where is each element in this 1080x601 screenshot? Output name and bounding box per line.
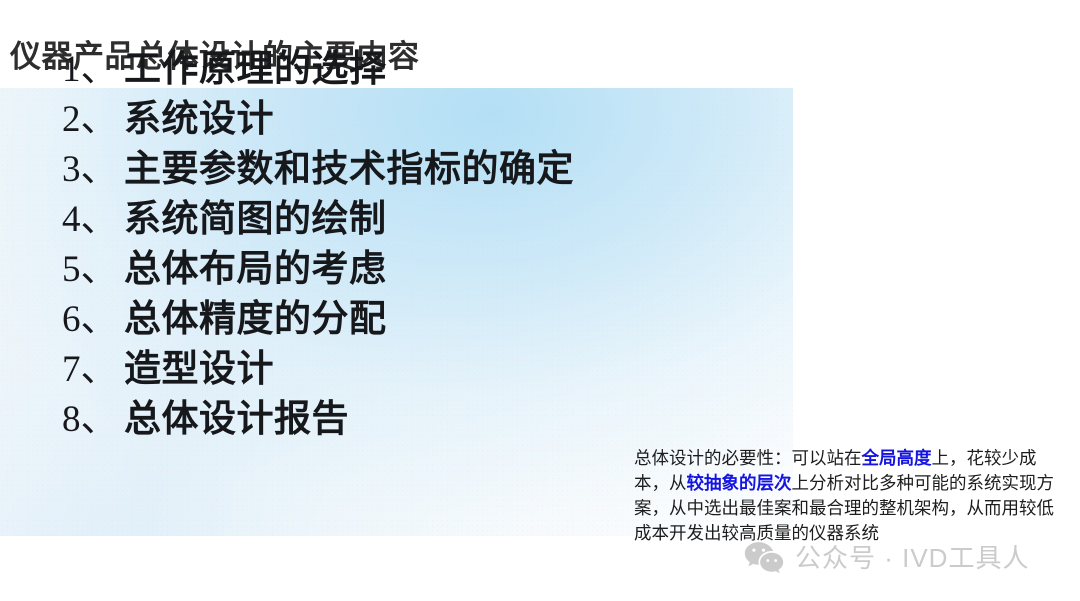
list-item: 4、 系统简图的绘制 — [62, 188, 574, 238]
list-item: 2、 系统设计 — [62, 88, 574, 138]
list-item: 1、 工作原理的选择 — [62, 38, 574, 88]
list-item-label: 工作原理的选择 — [124, 38, 387, 92]
list-item-number: 1、 — [62, 38, 124, 92]
list-item: 5、 总体布局的考虑 — [62, 238, 574, 288]
list-item-number: 6、 — [62, 288, 124, 342]
list-item: 8、 总体设计报告 — [62, 388, 574, 438]
list-item-label: 主要参数和技术指标的确定 — [124, 138, 574, 192]
list-item-number: 5、 — [62, 238, 124, 292]
list-item-label: 总体布局的考虑 — [124, 238, 387, 292]
list-item-label: 造型设计 — [124, 338, 274, 392]
list-item-label: 总体设计报告 — [124, 388, 349, 442]
list-item-number: 8、 — [62, 388, 124, 442]
list-item-label: 系统简图的绘制 — [124, 188, 387, 242]
side-note: 总体设计的必要性：可以站在全局高度上，花较少成本，从较抽象的层次上分析对比多种可… — [634, 446, 1068, 546]
note-highlight: 全局高度 — [862, 448, 932, 468]
note-highlight: 较抽象的层次 — [687, 473, 792, 493]
watermark: 公众号 · IVD工具人 — [744, 538, 1029, 575]
list-item-number: 4、 — [62, 188, 124, 242]
watermark-label: 公众号 · IVD工具人 — [795, 538, 1029, 575]
list-item-number: 7、 — [62, 338, 124, 392]
note-segment: 总体设计的必要性：可以站在 — [634, 448, 862, 468]
wechat-icon — [744, 540, 784, 574]
list-item-number: 3、 — [62, 138, 124, 192]
list-item: 3、 主要参数和技术指标的确定 — [62, 138, 574, 188]
list-item-number: 2、 — [62, 88, 124, 142]
list-item: 7、 造型设计 — [62, 338, 574, 388]
list-item-label: 系统设计 — [124, 88, 274, 142]
list-item-label: 总体精度的分配 — [124, 288, 387, 342]
list-item: 6、 总体精度的分配 — [62, 288, 574, 338]
outline-list: 1、 工作原理的选择 2、 系统设计 3、 主要参数和技术指标的确定 4、 系统… — [62, 38, 574, 438]
